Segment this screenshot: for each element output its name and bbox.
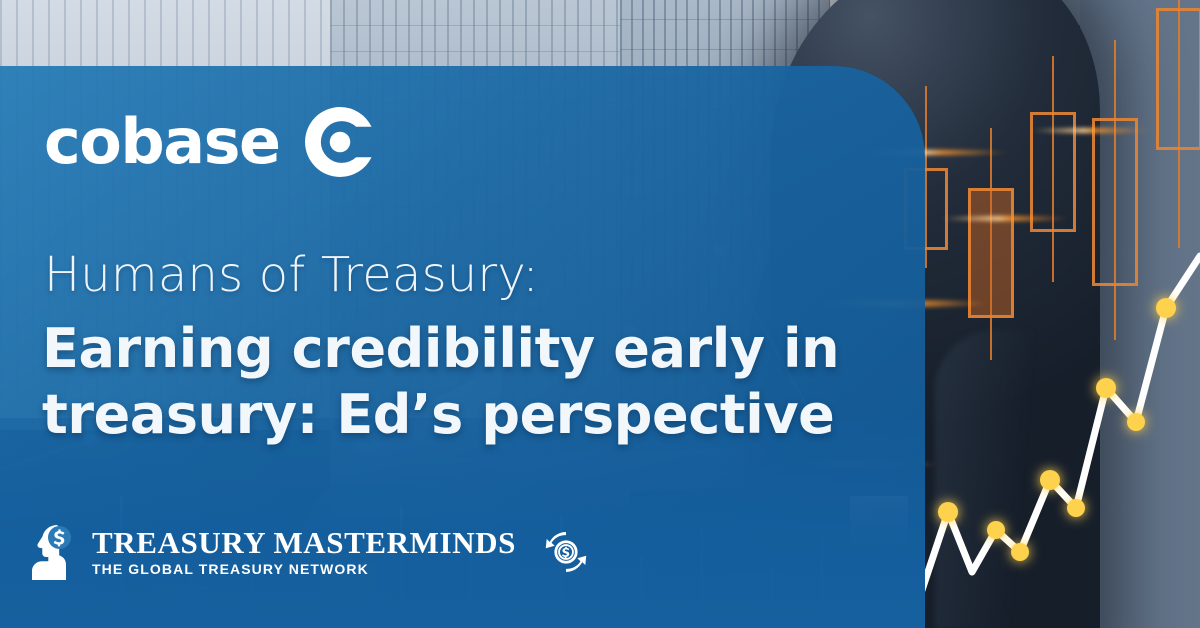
treasury-masterminds-tagline: THE GLOBAL TREASURY NETWORK <box>92 561 516 578</box>
headline-line-2: treasury: Ed’s perspective <box>42 382 892 448</box>
treasury-masterminds-text: TREASURY MASTERMINDS THE GLOBAL TREASURY… <box>92 526 516 578</box>
ascending-line-chart-icon <box>900 60 1200 628</box>
dollar-exchange-circle-icon <box>540 526 592 578</box>
kicker-text: Humans of Treasury: <box>44 249 539 301</box>
head-with-dollar-icon <box>32 524 78 580</box>
panel-bottom-gradient <box>0 418 925 628</box>
cobase-logo[interactable]: cobase <box>44 104 378 180</box>
page-title: Earning credibility early in treasury: E… <box>42 316 892 448</box>
social-banner: cobase Humans of Treasury: Earning credi… <box>0 0 1200 628</box>
cobase-circle-icon <box>302 104 378 180</box>
treasury-masterminds-title: TREASURY MASTERMINDS <box>92 526 516 559</box>
headline-line-1: Earning credibility early in <box>42 316 892 382</box>
treasury-masterminds-logo[interactable]: TREASURY MASTERMINDS THE GLOBAL TREASURY… <box>32 524 592 580</box>
cobase-wordmark: cobase <box>44 111 280 173</box>
